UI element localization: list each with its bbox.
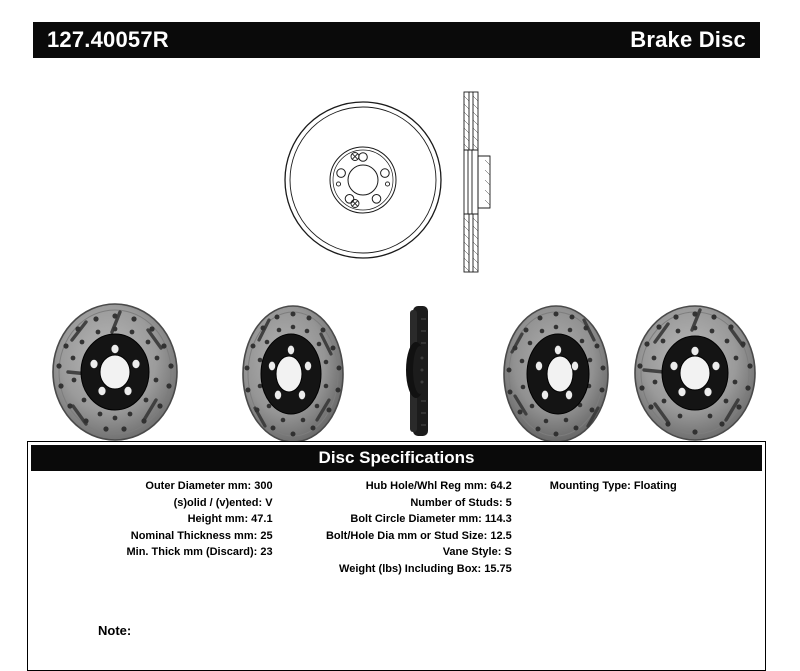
specifications-column-right: Mounting Type: Floating	[522, 478, 765, 608]
rotor-photo-edge-profile	[390, 296, 460, 444]
product-type-label: Brake Disc	[630, 27, 746, 53]
spec-item-nominal-thickness: Nominal Thickness mm: 25	[28, 528, 273, 545]
spec-item-bolt-circle-diameter: Bolt Circle Diameter mm: 114.3	[279, 511, 512, 528]
spec-item-weight: Weight (lbs) Including Box: 15.75	[279, 561, 512, 578]
spec-item-min-thickness: Min. Thick mm (Discard): 23	[28, 544, 273, 561]
brake-disc-front-view-line-drawing	[280, 80, 446, 280]
spec-item-solid-vented: (s)olid / (v)ented: V	[28, 495, 273, 512]
spec-item-mounting-type: Mounting Type: Floating	[550, 478, 765, 495]
part-number-label: 127.40057R	[47, 27, 169, 53]
specifications-columns: Outer Diameter mm: 300 (s)olid / (v)ente…	[28, 471, 765, 608]
rotor-photo-front-angle-right	[620, 296, 780, 444]
rotor-photo-angled-right	[482, 296, 642, 444]
disc-specifications-panel: Disc Specifications Outer Diameter mm: 3…	[27, 441, 766, 671]
note-label: Note:	[98, 623, 131, 638]
spec-item-vane-style: Vane Style: S	[279, 544, 512, 561]
spec-item-height: Height mm: 47.1	[28, 511, 273, 528]
title-bar: 127.40057R Brake Disc	[33, 22, 760, 58]
technical-drawing-area	[280, 80, 530, 285]
disc-specifications-title: Disc Specifications	[319, 448, 475, 468]
specifications-column-middle: Hub Hole/Whl Reg mm: 64.2 Number of Stud…	[279, 478, 522, 608]
spec-item-outer-diameter: Outer Diameter mm: 300	[28, 478, 273, 495]
rotor-photo-front-angle-left	[28, 296, 203, 444]
brake-disc-cross-section-line-drawing	[452, 82, 502, 282]
rotor-photo-angled-left	[203, 296, 378, 444]
spec-item-number-of-studs: Number of Studs: 5	[279, 495, 512, 512]
specifications-column-left: Outer Diameter mm: 300 (s)olid / (v)ente…	[28, 478, 279, 608]
note-row: Note:	[28, 608, 765, 670]
product-photo-row	[20, 296, 780, 446]
spec-item-bolt-hole-dia: Bolt/Hole Dia mm or Stud Size: 12.5	[279, 528, 512, 545]
spec-item-hub-hole: Hub Hole/Whl Reg mm: 64.2	[279, 478, 512, 495]
disc-specifications-header-bar: Disc Specifications	[31, 445, 762, 471]
